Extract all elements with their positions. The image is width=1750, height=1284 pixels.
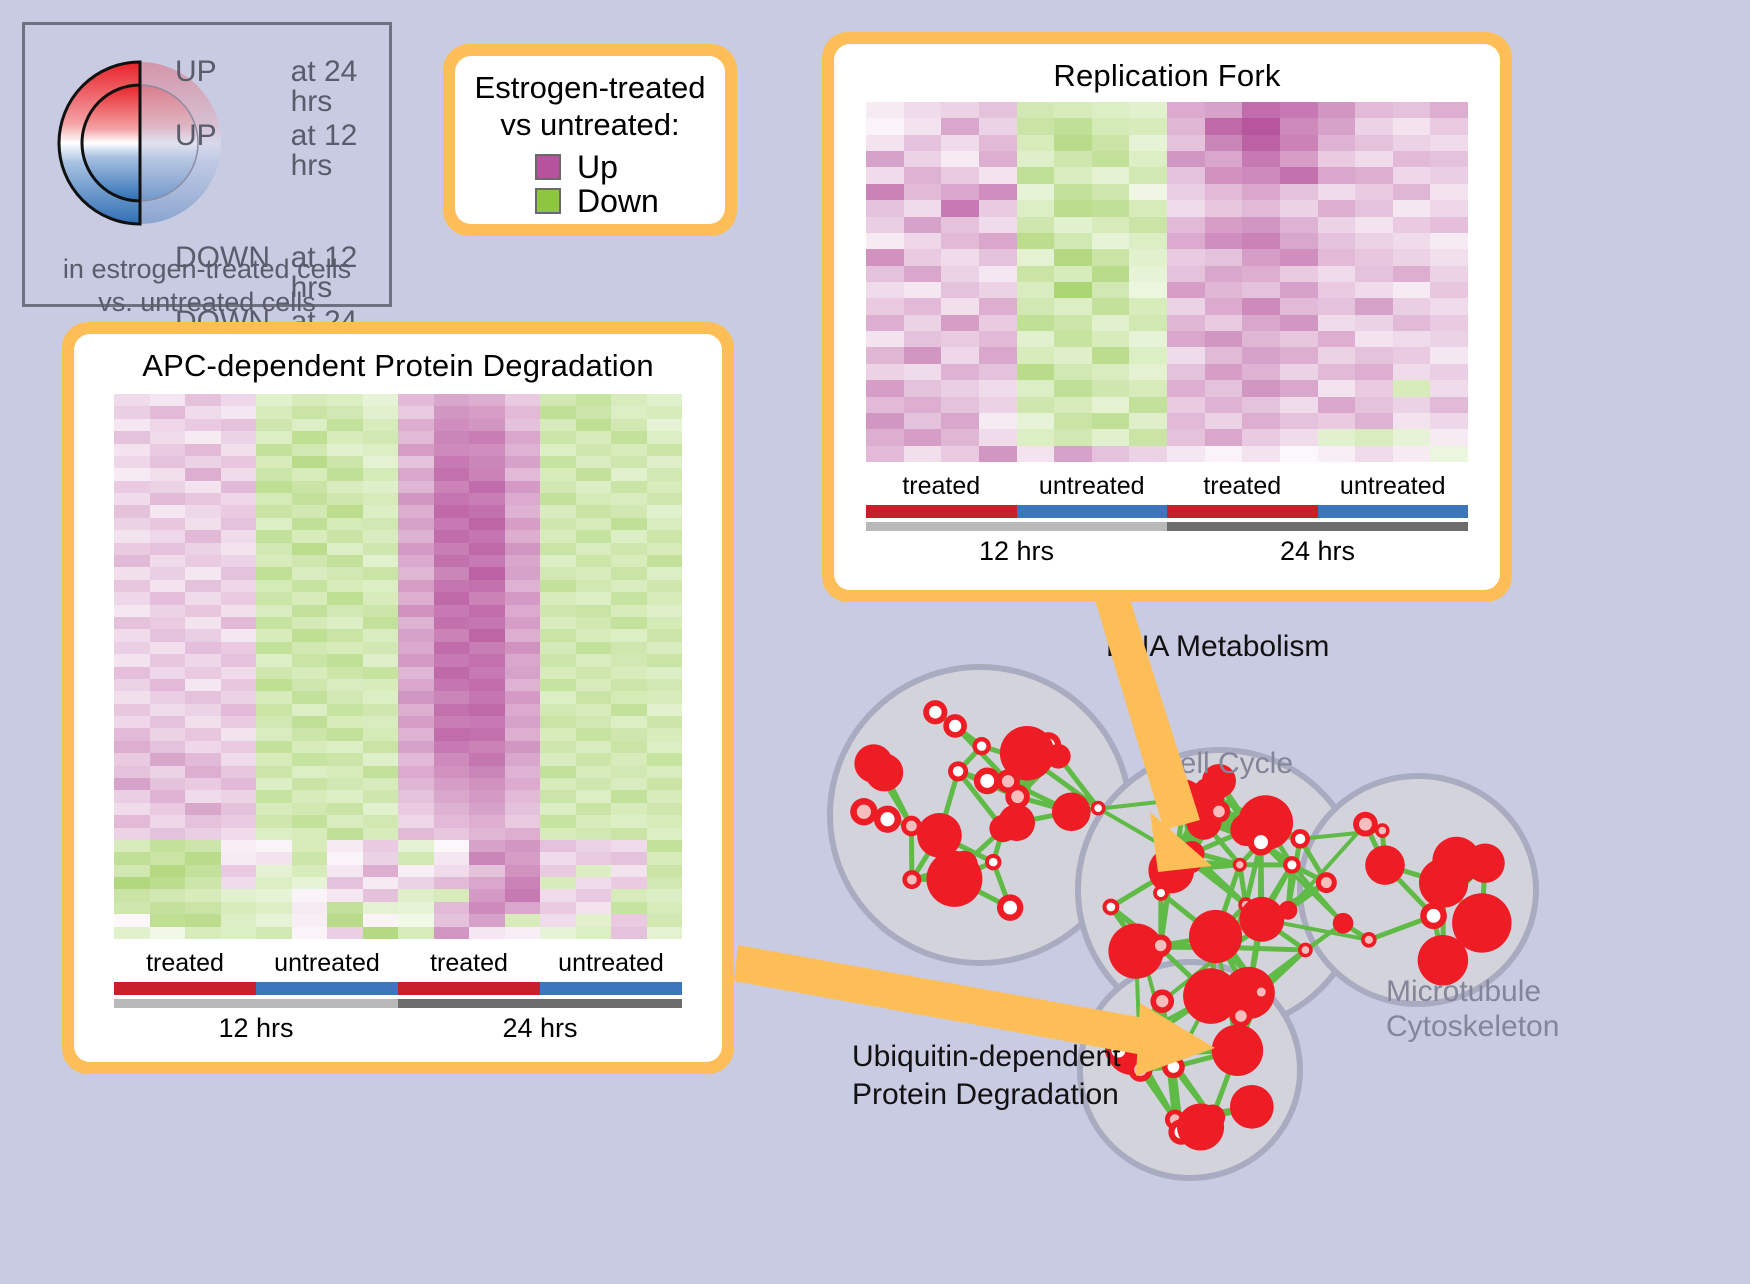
heatmap-cell: [1017, 282, 1055, 298]
heatmap-cell: [647, 790, 683, 802]
heatmap-cell: [256, 419, 292, 431]
network-node[interactable]: [901, 816, 922, 837]
heatmap-cell: [221, 728, 257, 740]
heatmap-cell: [1167, 151, 1205, 167]
heatmap-cell: [150, 667, 186, 679]
heatmap-cell: [434, 605, 470, 617]
node-core: [857, 805, 871, 819]
heatmap-cell: [611, 629, 647, 641]
heatmap-cell: [1393, 413, 1431, 429]
heatmap-cell: [1017, 184, 1055, 200]
heatmap-cell: [292, 444, 328, 456]
heatmap-cell: [292, 852, 328, 864]
heatmap-cell: [1092, 102, 1130, 118]
heatmap-cell: [540, 691, 576, 703]
network-node[interactable]: [1353, 812, 1378, 837]
heatmap-cell: [647, 741, 683, 753]
heatmap-cell: [1167, 397, 1205, 413]
heatmap-cell: [576, 753, 612, 765]
heatmap-cell: [611, 766, 647, 778]
network-node[interactable]: [1253, 983, 1270, 1000]
heatmap-cell: [576, 679, 612, 691]
heatmap-cell: [221, 927, 257, 939]
heatmap-cell: [611, 889, 647, 901]
heatmap-cell: [505, 691, 541, 703]
heatmap-cell: [1129, 102, 1167, 118]
heatmap-cell: [941, 266, 979, 282]
heatmap-cell: [1355, 397, 1393, 413]
heatmap-cell: [434, 914, 470, 926]
heatmap-cell: [221, 877, 257, 889]
heatmap-cell: [866, 429, 904, 445]
heatmap-cell: [576, 580, 612, 592]
heatmap-cell: [1355, 217, 1393, 233]
heatmap-cell: [866, 364, 904, 380]
heatmap-cell: [434, 902, 470, 914]
network-node[interactable]: [996, 769, 1020, 793]
node-core: [1147, 1024, 1155, 1032]
node-core: [1235, 1010, 1246, 1021]
heatmap-cell: [114, 555, 150, 567]
heatmap-cell: [1242, 151, 1280, 167]
heatmap-cell: [1054, 347, 1092, 363]
cluster-bubble-microtubule: [1300, 776, 1536, 1004]
heatmap-cell: [540, 914, 576, 926]
heatmap-cell: [941, 118, 979, 134]
heatmap-cell: [434, 419, 470, 431]
key-row: UP at 12 hrs: [175, 121, 405, 181]
network-node[interactable]: [923, 700, 947, 724]
heatmap-cell: [185, 431, 221, 443]
heatmap-cell: [1054, 380, 1092, 396]
heatmap-cell: [1129, 397, 1167, 413]
heatmap-cell: [221, 654, 257, 666]
heatmap-cell: [611, 741, 647, 753]
cluster-label-ubiquitin-line2: Protein Degradation: [852, 1078, 1119, 1113]
heatmap-cell: [1355, 102, 1393, 118]
legend-title-line-2: vs untreated:: [455, 107, 725, 144]
network-node[interactable]: [1375, 823, 1390, 838]
heatmap-cell: [1430, 282, 1468, 298]
network-node[interactable]: [1290, 829, 1310, 849]
heatmap-cell: [256, 840, 292, 852]
time-label: 24 hrs: [1167, 536, 1468, 567]
heatmap-cell: [576, 419, 612, 431]
heatmap-cell: [1242, 233, 1280, 249]
node-core: [929, 706, 942, 719]
heatmap-cell: [1054, 200, 1092, 216]
heatmap-cell: [941, 380, 979, 396]
heatmap-cell: [1092, 151, 1130, 167]
network-node[interactable]: [1248, 829, 1275, 856]
heatmap-cell: [1054, 217, 1092, 233]
network-node[interactable]: [998, 804, 1035, 841]
heatmap-cell: [505, 914, 541, 926]
heatmap-cell: [434, 629, 470, 641]
heatmap-cell: [398, 505, 434, 517]
heatmap-cell: [505, 592, 541, 604]
heatmap-cell: [327, 852, 363, 864]
heatmap-cell: [1167, 135, 1205, 151]
heatmap-cell: [327, 468, 363, 480]
heatmap-cell: [363, 555, 399, 567]
heatmap-cell: [221, 679, 257, 691]
heatmap-cell: [576, 592, 612, 604]
heatmap-cell: [1054, 364, 1092, 380]
heatmap-cell: [469, 654, 505, 666]
heatmap-cell: [866, 380, 904, 396]
heatmap-cell: [1092, 331, 1130, 347]
heatmap-cell: [398, 629, 434, 641]
network-node[interactable]: [917, 813, 962, 858]
heatmap-cell: [221, 555, 257, 567]
heatmap-cell: [256, 629, 292, 641]
timepoint-bar-24hrs: [398, 999, 682, 1008]
heatmap-cell: [866, 315, 904, 331]
heatmap-cell: [647, 840, 683, 852]
network-node[interactable]: [1102, 899, 1119, 916]
heatmap-cell: [434, 790, 470, 802]
heatmap-cell: [647, 629, 683, 641]
heatmap-cell: [434, 889, 470, 901]
heatmap-cell: [1318, 151, 1356, 167]
heatmap-cell: [114, 852, 150, 864]
heatmap-cell: [647, 394, 683, 406]
heatmap-cell: [398, 852, 434, 864]
heatmap-cell: [576, 902, 612, 914]
network-node[interactable]: [1239, 897, 1284, 942]
heatmap-cell: [611, 605, 647, 617]
heatmap-cell: [434, 505, 470, 517]
heatmap-cell: [469, 914, 505, 926]
heatmap-cell: [1054, 397, 1092, 413]
heatmap-cell: [150, 790, 186, 802]
heatmap-cell: [1205, 233, 1243, 249]
heatmap-cell: [256, 406, 292, 418]
heatmap-cell: [1242, 118, 1280, 134]
heatmap-cell: [904, 184, 942, 200]
heatmap-cell: [611, 543, 647, 555]
heatmap-cell: [434, 468, 470, 480]
network-node[interactable]: [1150, 934, 1172, 956]
heatmap-cell: [1280, 217, 1318, 233]
heatmap-cell: [505, 406, 541, 418]
heatmap-cell: [1430, 135, 1468, 151]
heatmap-cell: [1167, 200, 1205, 216]
heatmap-cell: [979, 331, 1017, 347]
heatmap-cell: [398, 605, 434, 617]
heatmap-cell: [540, 828, 576, 840]
heatmap-cell: [540, 530, 576, 542]
heatmap-cell: [1167, 102, 1205, 118]
heatmap-cell: [114, 456, 150, 468]
heatmap-cell: [1280, 184, 1318, 200]
heatmap-cell: [647, 530, 683, 542]
heatmap-cell: [647, 889, 683, 901]
heatmap-cell: [363, 741, 399, 753]
network-node[interactable]: [902, 870, 921, 889]
network-node[interactable]: [1420, 903, 1447, 930]
heatmap-cell: [904, 102, 942, 118]
heatmap-cell: [505, 493, 541, 505]
heatmap-cell: [327, 667, 363, 679]
heatmap-cell: [1318, 364, 1356, 380]
network-node[interactable]: [850, 798, 877, 825]
heatmap-cell: [1205, 217, 1243, 233]
heatmap-title: APC-dependent Protein Degradation: [74, 334, 722, 384]
node-core: [1168, 1061, 1180, 1073]
heatmap-cell: [1054, 331, 1092, 347]
node-core: [1427, 909, 1441, 923]
cluster-label-microtubule: Microtubule: [1386, 975, 1541, 1010]
heatmap-cell: [221, 431, 257, 443]
network-node[interactable]: [948, 761, 968, 781]
heatmap-cell: [469, 902, 505, 914]
heatmap-cell: [904, 429, 942, 445]
node-core: [1003, 901, 1017, 915]
heatmap-cell: [256, 753, 292, 765]
network-node[interactable]: [926, 851, 982, 907]
heatmap-cell: [647, 914, 683, 926]
node-core: [906, 821, 917, 832]
heatmap-cell: [363, 691, 399, 703]
node-core: [1213, 806, 1225, 818]
key-time-label: at 12 hrs: [291, 121, 405, 181]
heatmap-cell: [185, 865, 221, 877]
heatmap-cell: [1355, 364, 1393, 380]
heatmap-cell: [576, 840, 612, 852]
heatmap-cell: [941, 167, 979, 183]
heatmap-cell: [434, 815, 470, 827]
network-node[interactable]: [1298, 943, 1313, 958]
heatmap-cell: [1017, 118, 1055, 134]
heatmap-cell: [1280, 429, 1318, 445]
group-label: untreated: [540, 949, 682, 978]
heatmap-cell: [363, 914, 399, 926]
heatmap-cell: [185, 567, 221, 579]
heatmap-cell: [979, 446, 1017, 462]
caption-line-1: in estrogen-treated cells: [25, 253, 389, 286]
heatmap-cell: [292, 493, 328, 505]
heatmap-cell: [114, 654, 150, 666]
heatmap-cell: [1205, 249, 1243, 265]
heatmap-cell: [292, 766, 328, 778]
heatmap-cell: [576, 394, 612, 406]
pathway-network-diagram: DNA Metabolism Cell Cycle Microtubule Cy…: [790, 600, 1750, 1279]
heatmap-cell: [398, 803, 434, 815]
heatmap-cell: [256, 592, 292, 604]
heatmap-cell: [576, 766, 612, 778]
heatmap-cell: [150, 592, 186, 604]
heatmap-cell: [1205, 315, 1243, 331]
network-node[interactable]: [1177, 1104, 1224, 1151]
heatmap-cell: [114, 889, 150, 901]
heatmap-cell: [540, 716, 576, 728]
network-node[interactable]: [1316, 872, 1337, 893]
heatmap-cell: [647, 481, 683, 493]
network-node[interactable]: [1452, 893, 1511, 952]
heatmap-cell: [185, 505, 221, 517]
heatmap-cell: [327, 927, 363, 939]
heatmap-cell: [398, 555, 434, 567]
heatmap-cell: [398, 667, 434, 679]
heatmap-cell: [505, 877, 541, 889]
timepoint-bar-12hrs: [866, 522, 1167, 531]
heatmap-cell: [398, 530, 434, 542]
heatmap-cell: [941, 446, 979, 462]
network-node[interactable]: [1153, 885, 1169, 901]
heatmap-cell: [150, 753, 186, 765]
heatmap-cell: [434, 704, 470, 716]
network-node[interactable]: [874, 806, 901, 833]
heatmap-cell: [1205, 347, 1243, 363]
heatmap-cell: [114, 642, 150, 654]
heatmap-cell: [150, 505, 186, 517]
time-label: 12 hrs: [114, 1013, 398, 1044]
heatmap-cell: [221, 406, 257, 418]
heatmap-cell: [1393, 151, 1431, 167]
network-node[interactable]: [1230, 1085, 1274, 1129]
heatmap-cell: [647, 543, 683, 555]
heatmap-cell: [185, 456, 221, 468]
legend-item-label: Up: [577, 151, 618, 183]
heatmap-cell: [185, 555, 221, 567]
heatmap-cell: [256, 741, 292, 753]
heatmap-cell: [1167, 413, 1205, 429]
heatmap-cell: [540, 605, 576, 617]
heatmap-cell: [327, 555, 363, 567]
heatmap-cell: [1205, 266, 1243, 282]
heatmap-cell: [941, 135, 979, 151]
network-node[interactable]: [1212, 1025, 1263, 1076]
heatmap-cell: [505, 567, 541, 579]
network-node[interactable]: [1143, 1020, 1159, 1036]
heatmap-cell: [1355, 429, 1393, 445]
heatmap-cell: [150, 394, 186, 406]
node-ring: [1212, 1025, 1263, 1076]
heatmap-cell: [1242, 298, 1280, 314]
network-node[interactable]: [1333, 913, 1354, 934]
heatmap-cell: [434, 828, 470, 840]
heatmap-cell: [398, 567, 434, 579]
heatmap-cell: [469, 431, 505, 443]
heatmap-cell: [256, 877, 292, 889]
network-node[interactable]: [1052, 792, 1091, 831]
heatmap-cell: [1355, 266, 1393, 282]
network-node[interactable]: [1150, 989, 1174, 1013]
node-core: [1254, 835, 1268, 849]
heatmap-cell: [363, 617, 399, 629]
heatmap-cell: [1280, 200, 1318, 216]
legend-title-line-1: Estrogen-treated: [455, 70, 725, 107]
network-node[interactable]: [1128, 1057, 1152, 1081]
heatmap-cell: [292, 617, 328, 629]
network-node[interactable]: [985, 854, 1002, 871]
heatmap-cell: [221, 481, 257, 493]
heatmap-cell: [1430, 347, 1468, 363]
heatmap-cell: [1393, 397, 1431, 413]
heatmap-cell: [221, 530, 257, 542]
heatmap-cell: [398, 679, 434, 691]
heatmap-cell: [256, 803, 292, 815]
heatmap-cell: [1054, 298, 1092, 314]
node-ring: [1052, 792, 1091, 831]
heatmap-cell: [1129, 282, 1167, 298]
heatmap-cell: [540, 642, 576, 654]
network-node[interactable]: [1283, 856, 1301, 874]
heatmap-cell: [185, 642, 221, 654]
heatmap-cell: [1318, 266, 1356, 282]
heatmap-cell: [1280, 298, 1318, 314]
node-core: [949, 720, 961, 732]
heatmap-cell: [150, 481, 186, 493]
heatmap-cell: [114, 778, 150, 790]
heatmap-cell: [469, 567, 505, 579]
heatmap-cell: [185, 852, 221, 864]
heatmap-cell: [1318, 135, 1356, 151]
heatmap-cell: [1393, 233, 1431, 249]
node-ring: [1432, 837, 1480, 885]
heatmap-cell: [1430, 364, 1468, 380]
network-node[interactable]: [1189, 910, 1242, 963]
network-node[interactable]: [972, 737, 990, 755]
network-node[interactable]: [1230, 1005, 1252, 1027]
heatmap-cell: [398, 840, 434, 852]
heatmap-cell: [941, 413, 979, 429]
heatmap-cell: [1017, 413, 1055, 429]
heatmap-cell: [434, 394, 470, 406]
heatmap-cell: [469, 617, 505, 629]
network-node[interactable]: [1432, 837, 1480, 885]
network-node[interactable]: [865, 753, 903, 791]
network-node[interactable]: [1233, 858, 1247, 872]
heatmap-cell: [114, 753, 150, 765]
heatmap-cell: [1017, 249, 1055, 265]
network-node[interactable]: [1208, 800, 1231, 823]
heatmap-cell: [1280, 347, 1318, 363]
heatmap-cell: [398, 481, 434, 493]
heatmap-cell: [576, 530, 612, 542]
heatmap-grid: [114, 394, 682, 939]
network-node[interactable]: [1365, 845, 1405, 885]
network-node[interactable]: [1180, 851, 1202, 873]
heatmap-cell: [114, 728, 150, 740]
heatmap-cell: [611, 444, 647, 456]
heatmap-cell: [647, 431, 683, 443]
heatmap-cell: [363, 481, 399, 493]
heatmap-cell: [398, 419, 434, 431]
network-node[interactable]: [1361, 932, 1377, 948]
heatmap-cell: [979, 217, 1017, 233]
network-node[interactable]: [997, 894, 1023, 920]
network-node[interactable]: [943, 714, 967, 738]
heatmap-cell: [327, 444, 363, 456]
node-core: [1287, 860, 1296, 869]
heatmap-cell: [150, 642, 186, 654]
heatmap-cell: [1054, 413, 1092, 429]
network-node[interactable]: [1162, 1056, 1185, 1079]
heatmap-cell: [327, 803, 363, 815]
heatmap-cell: [114, 493, 150, 505]
heatmap-cell: [185, 815, 221, 827]
heatmap-cell: [505, 803, 541, 815]
heatmap-cell: [576, 889, 612, 901]
network-node[interactable]: [1091, 801, 1106, 816]
heatmap-cell: [505, 431, 541, 443]
heatmap-cell: [647, 592, 683, 604]
heatmap-cell: [1167, 298, 1205, 314]
heatmap-cell: [292, 567, 328, 579]
